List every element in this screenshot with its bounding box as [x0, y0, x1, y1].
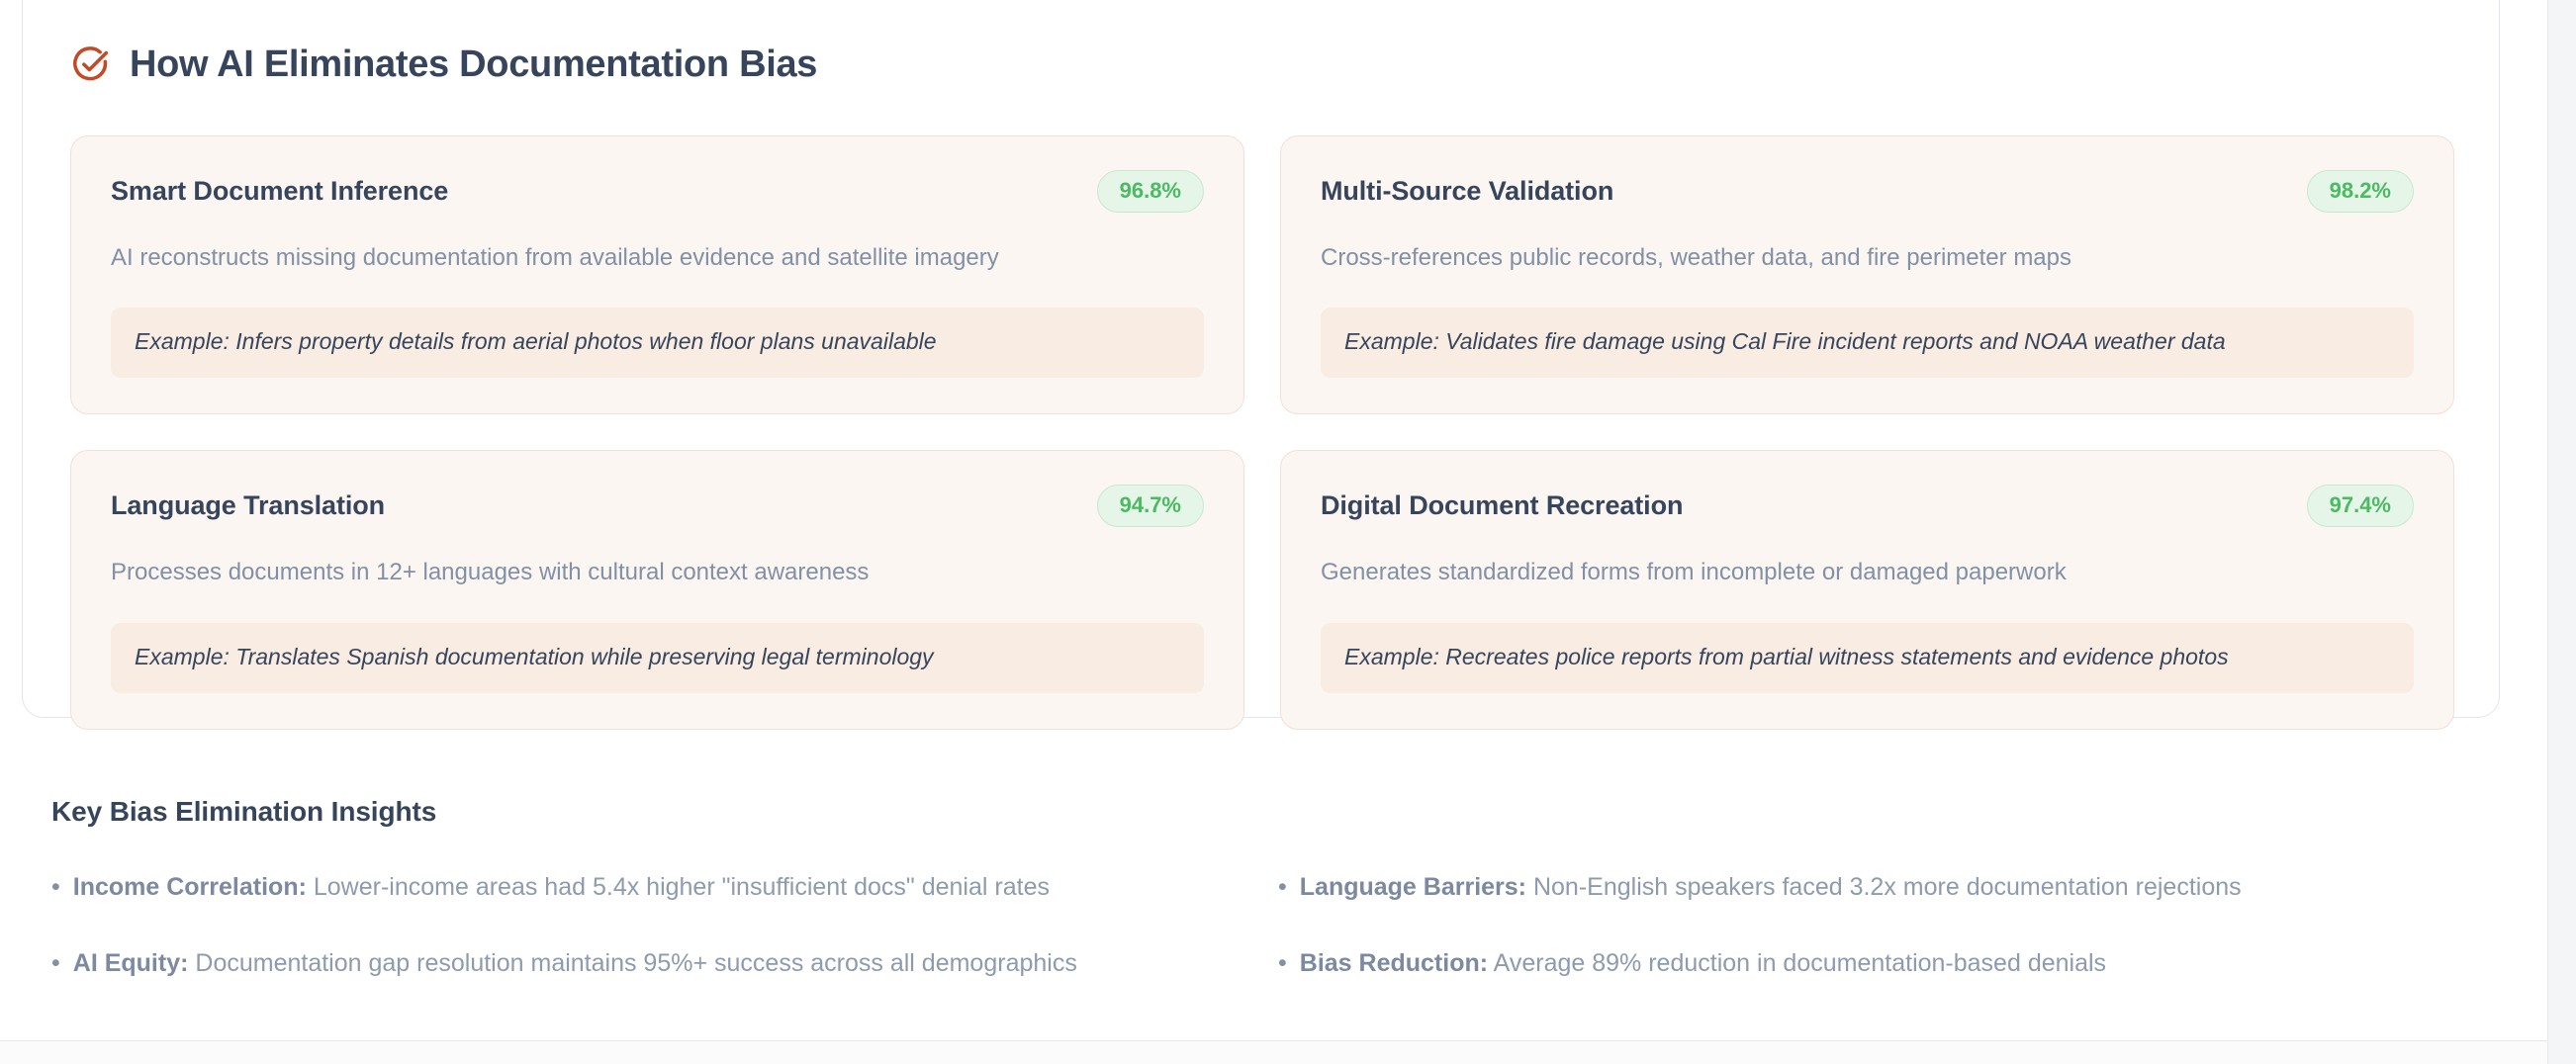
accuracy-badge: 98.2% — [2307, 170, 2414, 213]
insight-item-language-barriers: • Language Barriers: Non-English speaker… — [1278, 871, 2485, 904]
insight-item-ai-equity: • AI Equity: Documentation gap resolutio… — [51, 947, 1278, 980]
capability-card-multi-source-validation[interactable]: Multi-Source Validation 98.2% Cross-refe… — [1280, 135, 2454, 414]
card-title: Smart Document Inference — [111, 177, 448, 207]
circle-check-icon — [70, 44, 110, 84]
insight-label: Language Barriers: — [1300, 873, 1526, 901]
card-description: Processes documents in 12+ languages wit… — [111, 557, 1204, 588]
insight-text: Average 89% reduction in documentation-b… — [1494, 949, 2106, 977]
bullet-icon: • — [51, 875, 60, 900]
panel-header: How AI Eliminates Documentation Bias — [70, 44, 817, 84]
card-description: Cross-references public records, weather… — [1321, 242, 2414, 274]
bottom-strip — [0, 1041, 2547, 1064]
card-header: Language Translation 94.7% — [111, 485, 1204, 527]
card-example: Example: Recreates police reports from p… — [1321, 623, 2414, 693]
key-insights-section: Key Bias Elimination Insights • Income C… — [51, 796, 2485, 979]
card-description: AI reconstructs missing documentation fr… — [111, 242, 1204, 274]
insight-label: Income Correlation: — [73, 873, 307, 901]
insights-grid: • Income Correlation: Lower-income areas… — [51, 871, 2485, 979]
accuracy-badge: 94.7% — [1097, 485, 1204, 527]
capability-card-language-translation[interactable]: Language Translation 94.7% Processes doc… — [70, 450, 1244, 729]
capability-card-smart-document-inference[interactable]: Smart Document Inference 96.8% AI recons… — [70, 135, 1244, 414]
card-header: Multi-Source Validation 98.2% — [1321, 170, 2414, 213]
card-header: Smart Document Inference 96.8% — [111, 170, 1204, 213]
insights-title: Key Bias Elimination Insights — [51, 796, 2485, 828]
capability-card-digital-document-recreation[interactable]: Digital Document Recreation 97.4% Genera… — [1280, 450, 2454, 729]
documentation-bias-panel: How AI Eliminates Documentation Bias Sma… — [22, 0, 2500, 718]
accuracy-badge: 96.8% — [1097, 170, 1204, 213]
insight-label: AI Equity: — [73, 949, 189, 977]
insight-text: Non-English speakers faced 3.2x more doc… — [1533, 873, 2242, 901]
bullet-icon: • — [1278, 951, 1287, 976]
insight-text: Lower-income areas had 5.4x higher "insu… — [314, 873, 1050, 901]
insight-label: Bias Reduction: — [1300, 949, 1488, 977]
card-example: Example: Validates fire damage using Cal… — [1321, 308, 2414, 378]
bullet-icon: • — [1278, 875, 1287, 900]
accuracy-badge: 97.4% — [2307, 485, 2414, 527]
vertical-scrollbar[interactable] — [2547, 0, 2576, 1064]
page-title: How AI Eliminates Documentation Bias — [130, 45, 817, 83]
insight-item-bias-reduction: • Bias Reduction: Average 89% reduction … — [1278, 947, 2485, 980]
card-title: Language Translation — [111, 491, 385, 521]
card-example: Example: Infers property details from ae… — [111, 308, 1204, 378]
capability-card-grid: Smart Document Inference 96.8% AI recons… — [70, 135, 2454, 730]
card-title: Multi-Source Validation — [1321, 177, 1613, 207]
page-root: How AI Eliminates Documentation Bias Sma… — [0, 0, 2547, 1064]
insight-item-income-correlation: • Income Correlation: Lower-income areas… — [51, 871, 1278, 904]
card-title: Digital Document Recreation — [1321, 491, 1683, 521]
card-header: Digital Document Recreation 97.4% — [1321, 485, 2414, 527]
bullet-icon: • — [51, 951, 60, 976]
insight-text: Documentation gap resolution maintains 9… — [195, 949, 1076, 977]
card-example: Example: Translates Spanish documentatio… — [111, 623, 1204, 693]
card-description: Generates standardized forms from incomp… — [1321, 557, 2414, 588]
